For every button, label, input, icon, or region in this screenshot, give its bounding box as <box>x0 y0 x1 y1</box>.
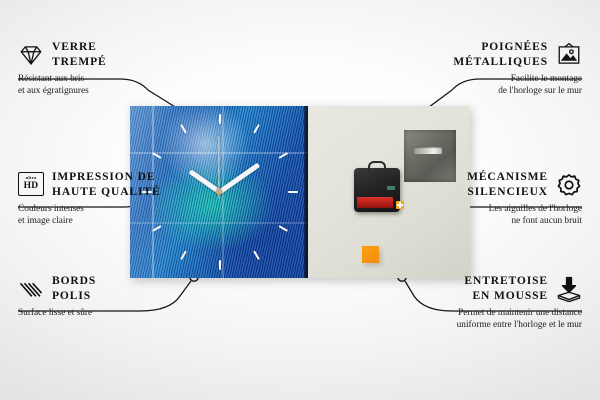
hour-tick <box>278 225 288 232</box>
feature-bords-polis: BORDS POLIS Surface lisse et sûre <box>18 274 214 320</box>
hanger-slot <box>414 147 442 154</box>
foam-spacer <box>362 246 379 263</box>
feature-title: POIGNÉES MÉTALLIQUES <box>453 40 548 69</box>
center-cap <box>216 189 222 195</box>
ultra-hd-icon: ultra HD <box>18 172 44 198</box>
ultra-hd-small-text: ultra <box>26 176 37 181</box>
feature-subtitle: Facilite le montage de l'horloge sur le … <box>386 74 582 97</box>
polished-edges-icon <box>18 276 44 302</box>
feature-entretoise-en-mousse: ENTRETOISE EN MOUSSE Permet de maintenir… <box>386 274 582 331</box>
feature-subtitle: Couleurs intenses et image claire <box>18 204 214 227</box>
hour-tick <box>180 124 187 134</box>
hour-tick <box>253 250 260 260</box>
hour-tick <box>152 152 162 159</box>
second-hand <box>218 136 219 198</box>
hour-tick <box>288 191 298 193</box>
gear-icon <box>556 172 582 198</box>
feature-title: ENTRETOISE EN MOUSSE <box>464 274 548 303</box>
feature-title: VERRE TREMPÉ <box>52 40 107 69</box>
hour-tick <box>180 250 187 260</box>
movement-hook <box>368 161 386 171</box>
feature-title: IMPRESSION DE HAUTE QUALITÉ <box>52 170 161 199</box>
hour-tick <box>219 260 221 270</box>
picture-frame-hanging-icon <box>556 42 582 68</box>
minute-hand <box>218 163 260 194</box>
hour-tick <box>278 152 288 159</box>
feature-title: BORDS POLIS <box>52 274 96 303</box>
foam-spacer-arrow-icon <box>556 276 582 302</box>
ultra-hd-large-text: HD <box>24 182 39 192</box>
feature-subtitle: Surface lisse et sûre <box>18 308 214 320</box>
feature-poignees-metalliques: POIGNÉES MÉTALLIQUES Facilite le montage… <box>386 40 582 97</box>
product-feature-infographic: VERRE TREMPÉ Résistant aux bris et aux é… <box>0 0 600 400</box>
hour-tick <box>219 114 221 124</box>
feature-mecanisme-silencieux: MÉCANISME SILENCIEUX Les aiguilles de l'… <box>386 170 582 227</box>
hour-tick <box>253 124 260 134</box>
feature-subtitle: Les aiguilles de l'horloge ne font aucun… <box>386 204 582 227</box>
feature-verre-trempe: VERRE TREMPÉ Résistant aux bris et aux é… <box>18 40 214 97</box>
feature-subtitle: Permet de maintenir une distance uniform… <box>386 308 582 331</box>
diamond-icon <box>18 42 44 68</box>
feature-impression-haute-qualite: ultra HD IMPRESSION DE HAUTE QUALITÉ Cou… <box>18 170 214 227</box>
feature-subtitle: Résistant aux bris et aux égratignures <box>18 74 214 97</box>
feature-title: MÉCANISME SILENCIEUX <box>467 170 548 199</box>
